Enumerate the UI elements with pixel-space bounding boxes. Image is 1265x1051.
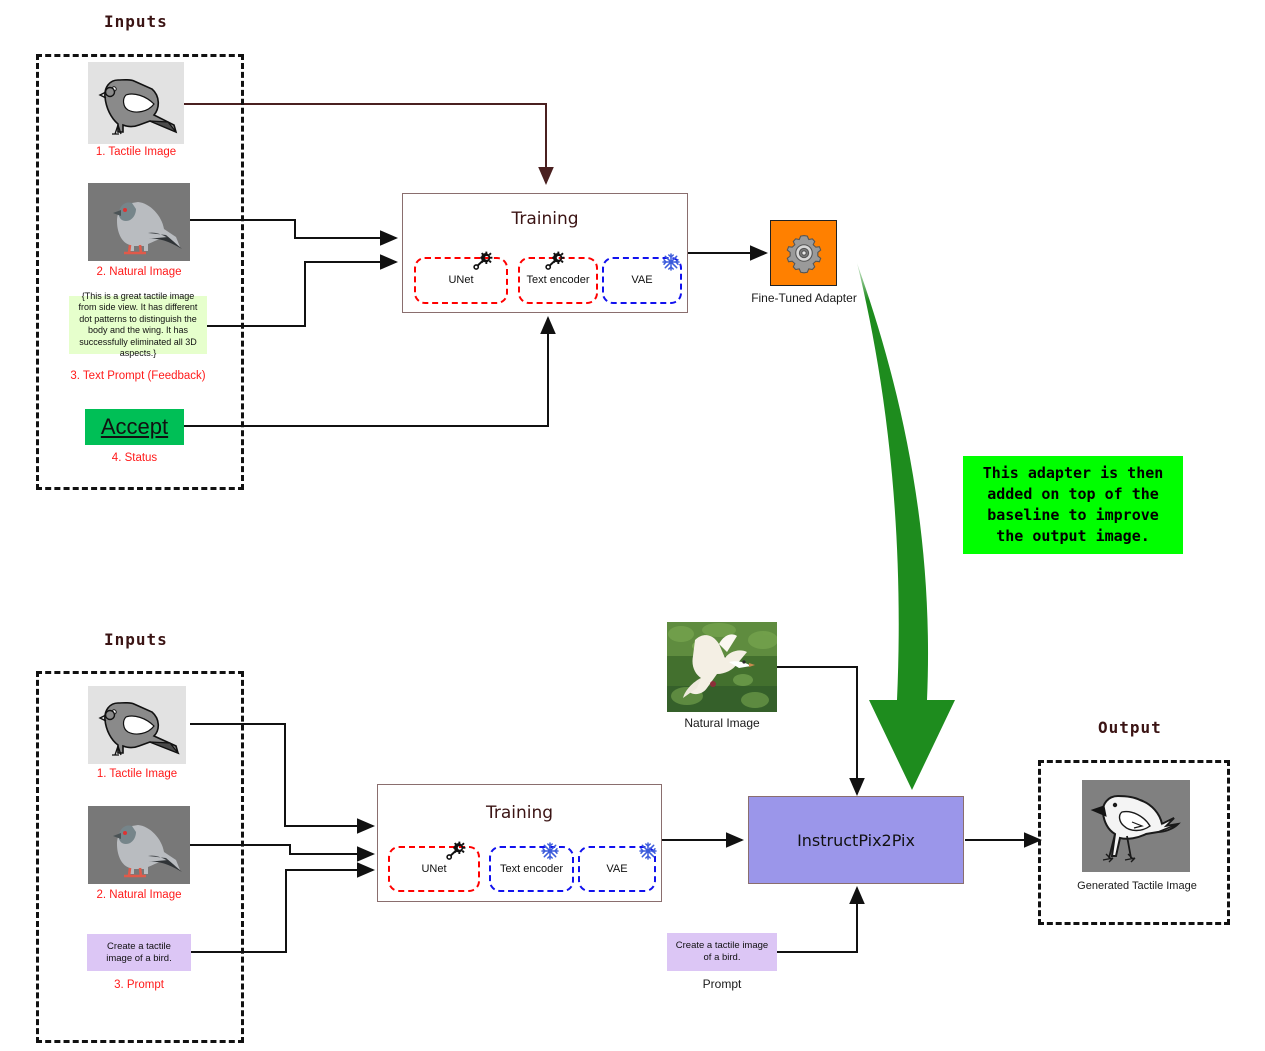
heading-output: Output — [1098, 718, 1162, 737]
callout-adapter-note: This adapter is then added on top of the… — [963, 456, 1183, 554]
wrench-gear-icon — [473, 250, 493, 270]
wire-naturalimage-to-model — [777, 667, 857, 794]
module-textencoder-bottom-label: Text encoder — [500, 863, 563, 876]
status-accept-label: Accept — [101, 414, 168, 440]
training-title-top: Training — [403, 209, 687, 229]
module-unet-top: UNet — [414, 257, 508, 304]
snowflake-icon — [540, 841, 560, 861]
dove-photo — [667, 622, 777, 712]
text-prompt-feedback[interactable]: {This is a great tactile image from side… — [69, 296, 207, 354]
caption-tactile-bottom: 1. Tactile Image — [88, 768, 186, 780]
fine-tuned-adapter[interactable] — [770, 220, 837, 286]
tactile-bird-illustration — [88, 686, 186, 764]
prompt-input-model[interactable]: Create a tactile image of a bird. — [667, 933, 777, 971]
prompt-input-bottom[interactable]: Create a tactile image of a bird. — [87, 934, 191, 971]
heading-inputs-top: Inputs — [104, 12, 168, 31]
module-unet-bottom-label: UNet — [421, 863, 446, 876]
thumb-tactile-top[interactable] — [88, 62, 184, 144]
snowflake-icon — [661, 252, 681, 272]
module-unet-top-label: UNet — [448, 274, 473, 287]
diagram-canvas: Inputs 1. Tactile Image 2. Natural Image — [0, 0, 1265, 1051]
thumb-generated-tactile[interactable] — [1082, 780, 1190, 872]
instructpix2pix-model[interactable]: InstructPix2Pix — [748, 796, 964, 884]
caption-prompt-bottom: 3. Prompt — [87, 979, 191, 991]
snowflake-icon — [638, 841, 658, 861]
module-vae-top-label: VAE — [631, 274, 652, 287]
wire-prompt2-to-model — [777, 888, 857, 952]
caption-tactile-top: 1. Tactile Image — [88, 146, 184, 158]
thumb-natural-top[interactable] — [88, 183, 190, 261]
thumb-tactile-bottom[interactable] — [88, 686, 186, 764]
wrench-gear-icon — [446, 840, 466, 860]
caption-prompt-model: Prompt — [667, 977, 777, 991]
tactile-bird-illustration — [88, 62, 184, 144]
module-unet-bottom: UNet — [388, 846, 480, 892]
thumb-natural-bottom[interactable] — [88, 806, 190, 884]
caption-feedback: 3. Text Prompt (Feedback) — [54, 370, 222, 382]
pigeon-photo — [88, 806, 190, 884]
caption-generated-tactile: Generated Tactile Image — [1062, 880, 1212, 892]
generated-bird-illustration — [1082, 780, 1190, 872]
instructpix2pix-label: InstructPix2Pix — [797, 831, 915, 850]
caption-natural-top: 2. Natural Image — [84, 266, 194, 278]
module-vae-bottom-label: VAE — [606, 863, 627, 876]
module-textencoder-bottom: Text encoder — [489, 846, 574, 892]
module-textencoder-top-label: Text encoder — [527, 274, 590, 287]
gear-icon — [782, 231, 826, 275]
wrench-gear-icon — [545, 250, 565, 270]
status-accept-button[interactable]: Accept — [85, 409, 184, 445]
pigeon-photo — [88, 183, 190, 261]
caption-natural-image-flying: Natural Image — [667, 716, 777, 730]
thumb-natural-image-flying[interactable] — [667, 622, 777, 712]
caption-adapter: Fine-Tuned Adapter — [744, 291, 864, 305]
caption-status: 4. Status — [85, 452, 184, 464]
adapter-to-model-green-arrow — [857, 263, 955, 790]
heading-inputs-bottom: Inputs — [104, 630, 168, 649]
caption-natural-bottom: 2. Natural Image — [84, 889, 194, 901]
training-title-bottom: Training — [378, 803, 661, 823]
